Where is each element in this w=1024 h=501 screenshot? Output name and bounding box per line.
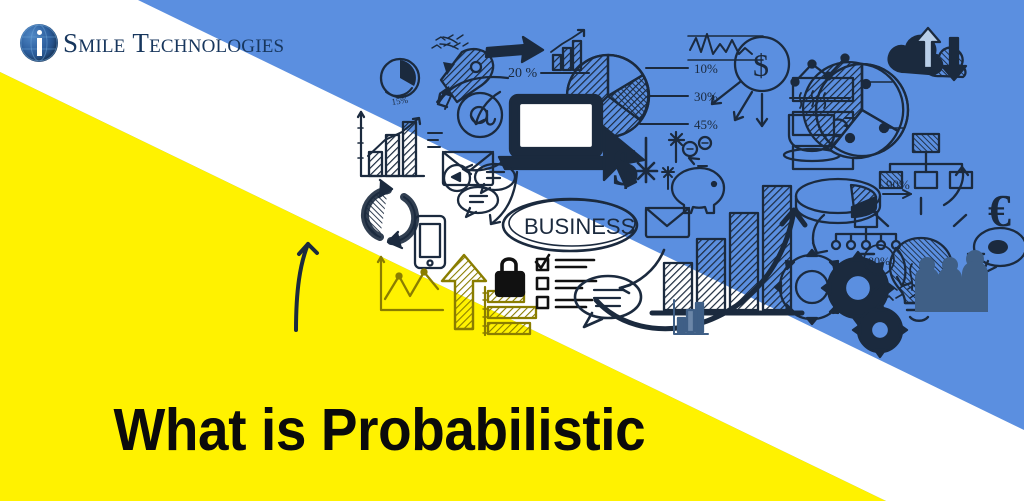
page-title-line1: What is Probabilistic [113,397,645,463]
letter-i-stem [37,38,42,56]
logo-technologies-rest: echnologies [149,28,284,58]
logo-smile-rest: mile [78,28,125,58]
globe-i-icon [20,24,58,62]
promo-banner: 15% [0,0,1024,501]
page-title: What is Probabilistic Classification Mod… [54,340,645,501]
letter-i-dot [37,30,42,35]
brand-logo[interactable]: Smile Technologies [20,21,284,65]
logo-t-cap: T [132,28,149,58]
brand-logo-text: Smile Technologies [63,30,284,57]
logo-s-cap: S [63,28,78,58]
